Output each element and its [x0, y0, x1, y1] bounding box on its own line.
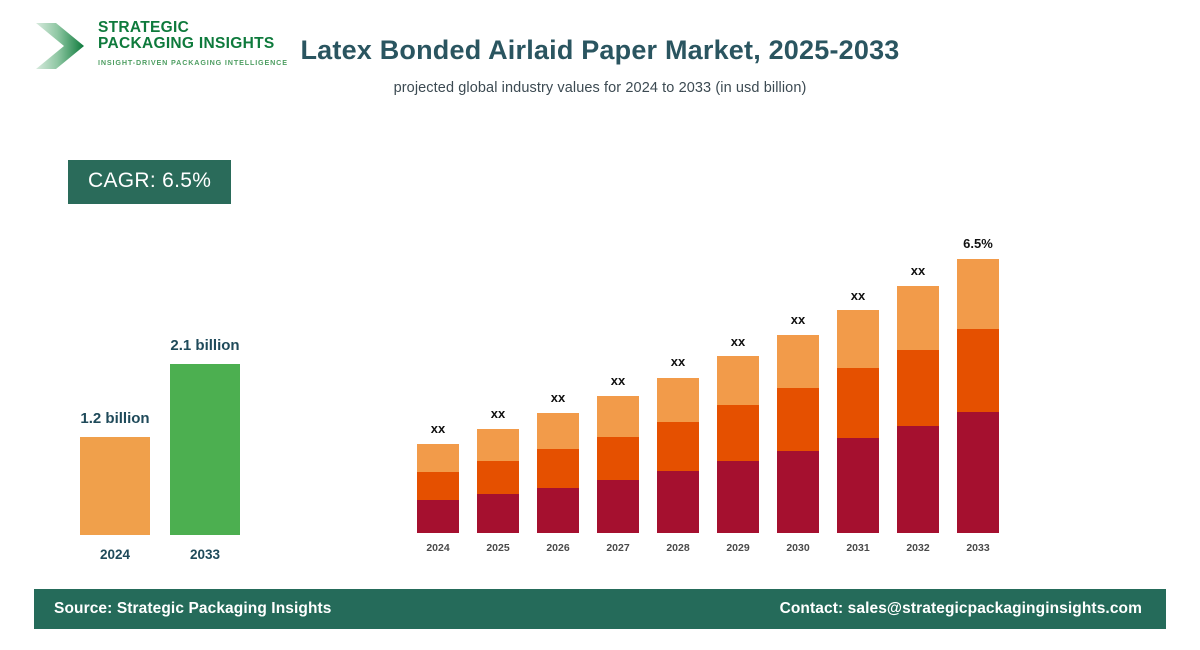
stacked-axis-label-2027: 2027	[597, 542, 639, 554]
stack-segment-segment-3	[777, 335, 819, 388]
stack-segment-segment-1	[837, 438, 879, 533]
page-subtitle: projected global industry values for 202…	[280, 80, 920, 96]
stacked-bar-2027	[597, 396, 639, 533]
stack-segment-segment-3	[477, 429, 519, 461]
stacked-axis-label-2025: 2025	[477, 542, 519, 554]
stacked-bar-label-2025: xx	[477, 406, 519, 421]
mini-bar-value-label: 1.2 billion	[58, 410, 172, 427]
stacked-axis-label-2032: 2032	[897, 542, 939, 554]
stack-segment-segment-1	[777, 451, 819, 533]
stacked-bar-2029	[717, 356, 759, 533]
stacked-bar-label-2027: xx	[597, 373, 639, 388]
header: Latex Bonded Airlaid Paper Market, 2025-…	[280, 32, 920, 96]
stack-segment-segment-2	[777, 388, 819, 451]
stack-segment-segment-2	[537, 449, 579, 488]
stacked-bar-label-2031: xx	[837, 288, 879, 303]
brand-wordmark: STRATEGIC PACKAGING INSIGHTS INSIGHT-DRI…	[98, 20, 288, 67]
stacked-bar-label-2024: xx	[417, 421, 459, 436]
footer-contact-text: Contact: sales@strategicpackaginginsight…	[780, 589, 1142, 629]
chevron-arrow-icon	[34, 20, 90, 72]
mini-bar-2033	[170, 364, 240, 535]
stacked-bar-2031	[837, 310, 879, 533]
stack-segment-segment-1	[477, 494, 519, 533]
start-vs-end-comparison-chart: 1.2 billion20242.1 billion2033	[40, 300, 290, 570]
stacked-bar-label-2033: 6.5%	[957, 236, 999, 251]
stack-segment-segment-2	[657, 422, 699, 471]
stacked-bar-label-2028: xx	[657, 354, 699, 369]
stack-segment-segment-1	[897, 426, 939, 533]
page-title: Latex Bonded Airlaid Paper Market, 2025-…	[280, 32, 920, 69]
stacked-bar-2025	[477, 429, 519, 533]
stack-segment-segment-3	[417, 444, 459, 472]
stack-segment-segment-2	[897, 350, 939, 426]
stack-segment-segment-1	[537, 488, 579, 533]
mini-bar-column: 2.1 billion	[170, 364, 240, 535]
mini-axis-label-2033: 2033	[170, 547, 240, 562]
stacked-bar-label-2030: xx	[777, 312, 819, 327]
stacked-axis-label-2030: 2030	[777, 542, 819, 554]
stack-segment-segment-1	[597, 480, 639, 533]
stack-segment-segment-3	[657, 378, 699, 422]
stack-segment-segment-2	[837, 368, 879, 438]
stack-segment-segment-2	[717, 405, 759, 461]
brand-logo: STRATEGIC PACKAGING INSIGHTS INSIGHT-DRI…	[30, 16, 270, 78]
brand-name-line1: STRATEGIC	[98, 20, 288, 36]
mini-bar-2024	[80, 437, 150, 535]
footer-source-text: Source: Strategic Packaging Insights	[54, 589, 332, 629]
stack-segment-segment-2	[417, 472, 459, 500]
brand-name-line2: PACKAGING INSIGHTS	[98, 36, 288, 52]
stack-segment-segment-1	[957, 412, 999, 533]
mini-axis-label-2024: 2024	[80, 547, 150, 562]
stacked-axis-label-2026: 2026	[537, 542, 579, 554]
stacked-bar-label-2029: xx	[717, 334, 759, 349]
stack-segment-segment-1	[657, 471, 699, 533]
stacked-bar-2030	[777, 335, 819, 533]
stack-segment-segment-3	[897, 286, 939, 350]
stack-segment-segment-3	[597, 396, 639, 437]
stack-segment-segment-2	[957, 329, 999, 412]
stack-segment-segment-2	[597, 437, 639, 480]
cagr-badge: CAGR: 6.5%	[68, 160, 231, 204]
stacked-bar-2026	[537, 413, 579, 533]
stack-segment-segment-3	[537, 413, 579, 449]
brand-tagline: INSIGHT-DRIVEN PACKAGING INTELLIGENCE	[98, 58, 288, 67]
stacked-axis-label-2031: 2031	[837, 542, 879, 554]
stack-segment-segment-3	[717, 356, 759, 405]
mini-bar-column: 1.2 billion	[80, 437, 150, 535]
stacked-bar-label-2026: xx	[537, 390, 579, 405]
stack-segment-segment-2	[477, 461, 519, 494]
stacked-axis-label-2028: 2028	[657, 542, 699, 554]
stack-segment-segment-3	[837, 310, 879, 368]
mini-bar-value-label: 2.1 billion	[148, 337, 262, 354]
stacked-bar-label-2032: xx	[897, 263, 939, 278]
footer-bar: Source: Strategic Packaging Insights Con…	[34, 589, 1166, 629]
stack-segment-segment-3	[957, 259, 999, 329]
stacked-bar-2024	[417, 444, 459, 533]
segmented-forecast-chart: xx2024xx2025xx2026xx2027xx2028xx2029xx20…	[400, 190, 1020, 560]
stacked-axis-label-2029: 2029	[717, 542, 759, 554]
stacked-bar-2032	[897, 286, 939, 533]
stack-segment-segment-1	[417, 500, 459, 533]
stacked-axis-label-2033: 2033	[957, 542, 999, 554]
stack-segment-segment-1	[717, 461, 759, 533]
stacked-bar-2033	[957, 259, 999, 533]
stacked-axis-label-2024: 2024	[417, 542, 459, 554]
stacked-bar-2028	[657, 378, 699, 533]
